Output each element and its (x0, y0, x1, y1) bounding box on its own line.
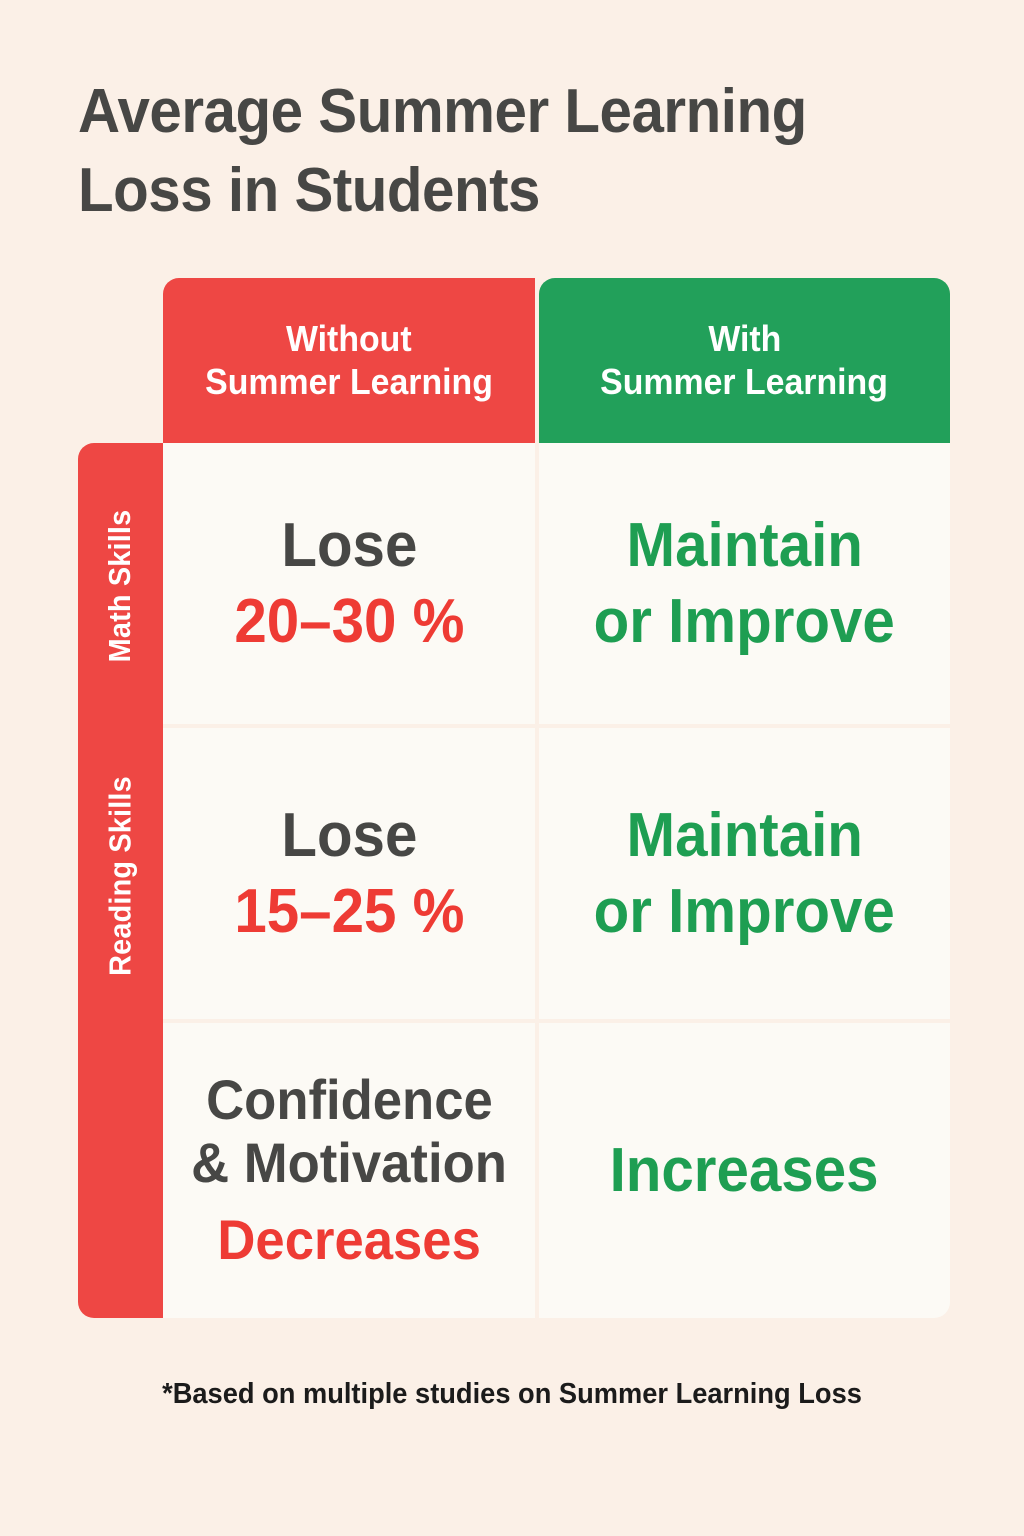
cell-reading-with-line-1: Maintain (626, 801, 862, 870)
column-header-with: With Summer Learning (539, 278, 950, 443)
cell-reading-with-line-2: or Improve (594, 877, 895, 946)
footnote: *Based on multiple studies on Summer Lea… (31, 1378, 994, 1411)
cell-confidence-without-highlight: Decreases (217, 1209, 480, 1272)
comparison-table: Without Summer Learning With Summer Lear… (78, 278, 950, 1318)
cell-confidence-with-line-1: Increases (610, 1136, 879, 1205)
row-label-math-skills-text: Math Skills (103, 509, 139, 662)
row-label-reading-skills: Reading Skills (78, 728, 163, 1023)
row-label-math-skills: Math Skills (78, 443, 163, 728)
column-header-without-line-2: Summer Learning (205, 361, 493, 403)
cell-reading-without-primary: Lose (281, 801, 417, 870)
column-header-with-line-1: With (708, 318, 781, 360)
page-title-line-1: Average Summer Learning (78, 72, 896, 151)
row-label-reading-skills-text: Reading Skills (103, 776, 139, 976)
cell-math-without: Lose 20–30 % (163, 443, 535, 724)
row-label-confidence (78, 1023, 163, 1318)
table-body: Lose 20–30 % Maintain or Improve Lose 15… (163, 443, 950, 1318)
column-header-without: Without Summer Learning (163, 278, 535, 443)
page-title-line-2: Loss in Students (78, 151, 896, 230)
column-header-without-line-1: Without (286, 318, 412, 360)
cell-confidence-without-line-1: Confidence (206, 1069, 493, 1132)
row-label-rail: Math Skills Reading Skills (78, 443, 163, 1318)
cell-confidence-without: Confidence & Motivation Decreases (163, 1023, 535, 1318)
infographic-page: Average Summer Learning Loss in Students… (0, 0, 1024, 1536)
cell-confidence-with: Increases (539, 1023, 950, 1318)
cell-math-without-primary: Lose (281, 511, 417, 580)
cell-reading-with: Maintain or Improve (539, 728, 950, 1019)
column-header-with-line-2: Summer Learning (601, 361, 889, 403)
cell-math-with-line-2: or Improve (594, 587, 895, 656)
cell-math-with: Maintain or Improve (539, 443, 950, 724)
cell-reading-without: Lose 15–25 % (163, 728, 535, 1019)
cell-reading-without-highlight: 15–25 % (234, 877, 464, 946)
cell-math-without-highlight: 20–30 % (234, 587, 464, 656)
cell-math-with-line-1: Maintain (626, 511, 862, 580)
page-title: Average Summer Learning Loss in Students (78, 72, 896, 231)
cell-confidence-without-line-2: & Motivation (191, 1132, 507, 1195)
